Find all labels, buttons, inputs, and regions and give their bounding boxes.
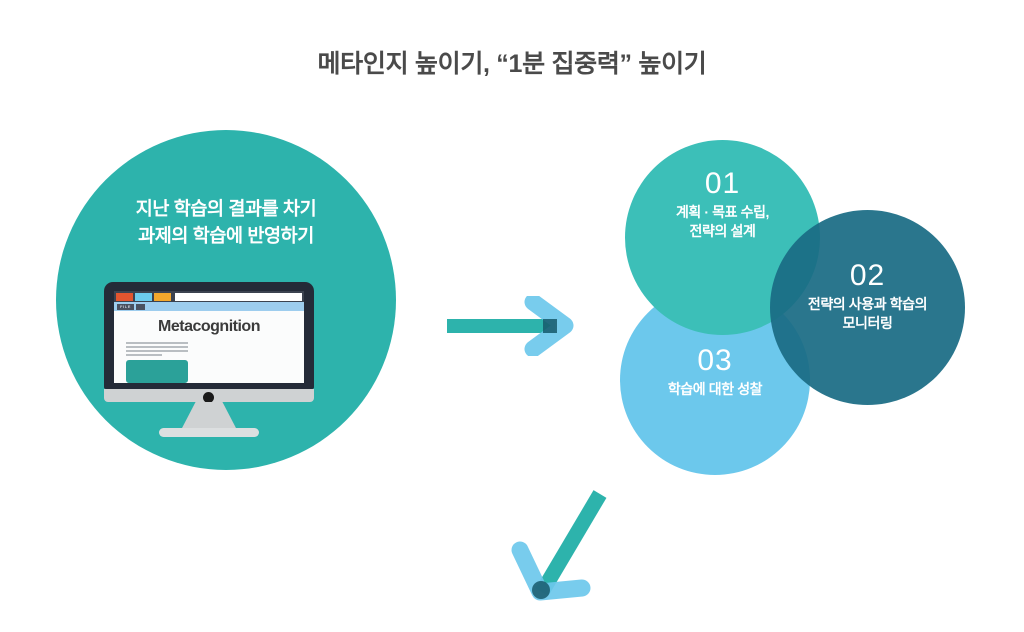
browser-tab-blue-icon bbox=[135, 293, 152, 301]
page-title: 메타인지 높이기, “1분 집중력” 높이기 bbox=[0, 44, 1024, 80]
browser-toolbar: FILE bbox=[114, 302, 304, 311]
browser-address-bar bbox=[175, 293, 302, 301]
browser-page-content: Metacognition bbox=[114, 311, 304, 383]
screen-heading: Metacognition bbox=[124, 319, 294, 335]
browser-tab-bar bbox=[114, 291, 304, 302]
placeholder-line bbox=[126, 350, 188, 352]
arrow-down-left-icon bbox=[500, 488, 620, 613]
placeholder-line bbox=[126, 346, 188, 348]
monitor-screen: FILE Metacognition bbox=[104, 282, 314, 389]
file-menu-label: FILE bbox=[117, 304, 134, 310]
left-concept-caption: 지난 학습의 결과를 차기 과제의 학습에 반영하기 bbox=[56, 196, 396, 250]
monitor-stand-base bbox=[159, 428, 259, 437]
browser-tab-red-icon bbox=[116, 293, 133, 301]
monitor-power-dot-icon bbox=[203, 392, 214, 403]
browser-tab-orange-icon bbox=[154, 293, 171, 301]
placeholder-line bbox=[126, 342, 188, 344]
arrow-right-icon bbox=[447, 296, 577, 356]
placeholder-text-lines bbox=[126, 342, 294, 356]
left-caption-line-2: 과제의 학습에 반영하기 bbox=[56, 223, 396, 250]
left-caption-line-1: 지난 학습의 결과를 차기 bbox=[56, 196, 396, 223]
metacognition-cycle-cluster: 01 계획 · 목표 수립, 전략의 설계 02 전략의 사용과 학습의 모니터… bbox=[610, 140, 960, 490]
content-block bbox=[126, 360, 188, 383]
diagram-canvas: 메타인지 높이기, “1분 집중력” 높이기 지난 학습의 결과를 차기 과제의… bbox=[0, 0, 1024, 632]
monitor-illustration: FILE Metacognition bbox=[104, 282, 314, 442]
toolbar-button-icon bbox=[136, 304, 145, 310]
cycle-circle-02[interactable] bbox=[770, 210, 965, 405]
placeholder-line bbox=[126, 354, 162, 356]
browser-window: FILE Metacognition bbox=[114, 291, 304, 383]
monitor-stand-neck bbox=[181, 402, 237, 430]
